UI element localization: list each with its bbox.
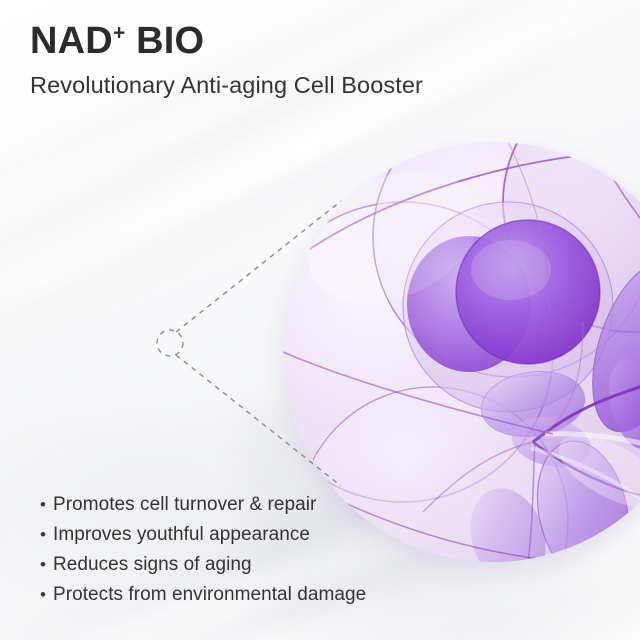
title-superscript: + — [113, 21, 125, 44]
benefits-list: • Promotes cell turnover & repair • Impr… — [40, 492, 366, 612]
benefit-text: Improves youthful appearance — [53, 522, 310, 548]
title-main: NAD — [30, 20, 113, 62]
header-block: NAD+ BIO Revolutionary Anti-aging Cell B… — [30, 22, 423, 99]
title-suffix: BIO — [125, 20, 204, 62]
list-item: • Reduces signs of aging — [40, 552, 366, 578]
benefit-text: Protects from environmental damage — [53, 582, 366, 608]
benefit-text: Reduces signs of aging — [53, 552, 252, 578]
page-title: NAD+ BIO — [30, 22, 423, 62]
product-poster: NAD+ BIO Revolutionary Anti-aging Cell B… — [0, 0, 640, 640]
bullet-marker-icon: • — [40, 526, 53, 543]
list-item: • Protects from environmental damage — [40, 582, 366, 608]
bullet-marker-icon: • — [40, 496, 53, 513]
bullet-marker-icon: • — [40, 586, 53, 603]
benefit-text: Promotes cell turnover & repair — [53, 492, 316, 518]
page-subtitle: Revolutionary Anti-aging Cell Booster — [30, 72, 423, 99]
bullet-marker-icon: • — [40, 556, 53, 573]
list-item: • Promotes cell turnover & repair — [40, 492, 366, 518]
list-item: • Improves youthful appearance — [40, 522, 366, 548]
